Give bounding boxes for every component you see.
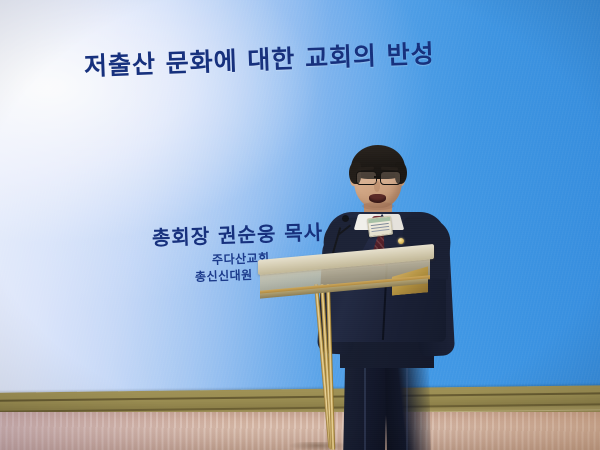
slide-speaker-line: 총회장 권순웅 목사 [151, 216, 323, 251]
photo-canvas: 저출산 문화에 대한 교회의 반성 총회장 권순웅 목사 주다산교회 총신신대원 [0, 0, 600, 450]
podium [258, 252, 434, 450]
speaker-chin-shadow [362, 202, 394, 210]
lapel-pin-icon [398, 238, 404, 244]
name-badge [367, 216, 393, 238]
microphone-capsule-icon [342, 215, 349, 222]
speaker-nose [374, 181, 380, 192]
glasses-lens-right [380, 171, 401, 185]
slide-affiliation-line-2: 총신신대원 [195, 266, 253, 285]
glasses-bridge [374, 176, 381, 178]
name-badge-text [371, 223, 389, 227]
speaker-mouth [369, 194, 386, 203]
